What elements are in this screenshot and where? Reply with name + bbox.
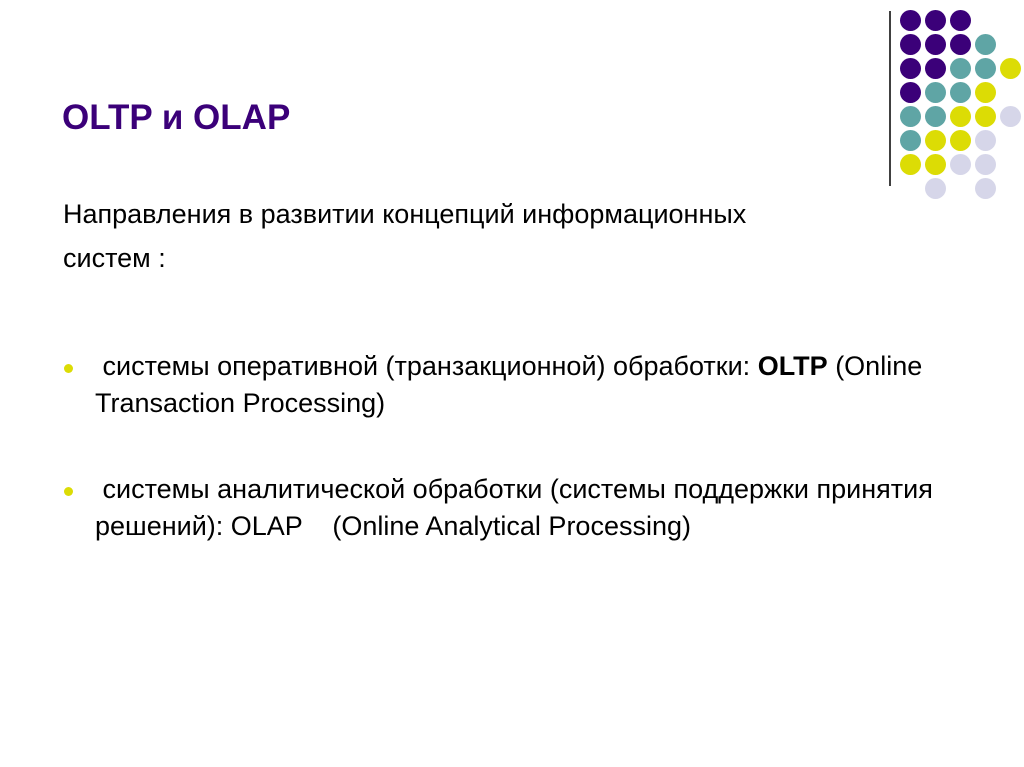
dot-purple [900,82,921,103]
dot-yellow [950,130,971,151]
list-item-text: системы аналитической обработки (системы… [95,471,988,545]
dot-purple [925,10,946,31]
dot-purple [925,58,946,79]
dot-lavender [975,178,996,199]
dot-purple [900,10,921,31]
dot-teal [925,82,946,103]
dot-purple [925,34,946,55]
dot-purple [950,34,971,55]
dot-lavender [975,130,996,151]
dot-grid-logo [884,0,1024,195]
dot-teal [925,106,946,127]
decorative-dot-grid [900,10,1020,180]
dot-yellow [950,106,971,127]
list-item: системы оперативной (транзакционной) обр… [58,348,988,422]
dot-teal [950,82,971,103]
vertical-rule-divider [889,11,891,186]
intro-paragraph: Направления в развитии концепций информа… [63,192,803,280]
dot-lavender [1000,106,1021,127]
bullet-dot-icon [64,487,73,496]
page-title: OLTP и OLAP [62,98,290,138]
dot-yellow [900,154,921,175]
dot-purple [950,10,971,31]
list-item: системы аналитической обработки (системы… [58,471,988,545]
dot-lavender [950,154,971,175]
list-item-text: системы оперативной (транзакционной) обр… [95,348,988,422]
list-item-term-oltp: OLTP [758,351,828,381]
dot-yellow [975,82,996,103]
slide-canvas: OLTP и OLAP Направления в развитии конце… [0,0,1024,767]
dot-purple [900,34,921,55]
dot-yellow [1000,58,1021,79]
list-item-text-lead: системы аналитической обработки (системы… [95,474,940,541]
dot-teal [950,58,971,79]
dot-teal [900,130,921,151]
dot-yellow [925,130,946,151]
bullet-dot-icon [64,364,73,373]
dot-teal [900,106,921,127]
bullet-list: системы оперативной (транзакционной) обр… [58,348,988,545]
dot-teal [975,58,996,79]
dot-yellow [975,106,996,127]
list-item-text-lead: системы оперативной (транзакционной) обр… [95,351,758,381]
dot-yellow [925,154,946,175]
dot-lavender [925,178,946,199]
dot-lavender [975,154,996,175]
dot-purple [900,58,921,79]
dot-teal [975,34,996,55]
